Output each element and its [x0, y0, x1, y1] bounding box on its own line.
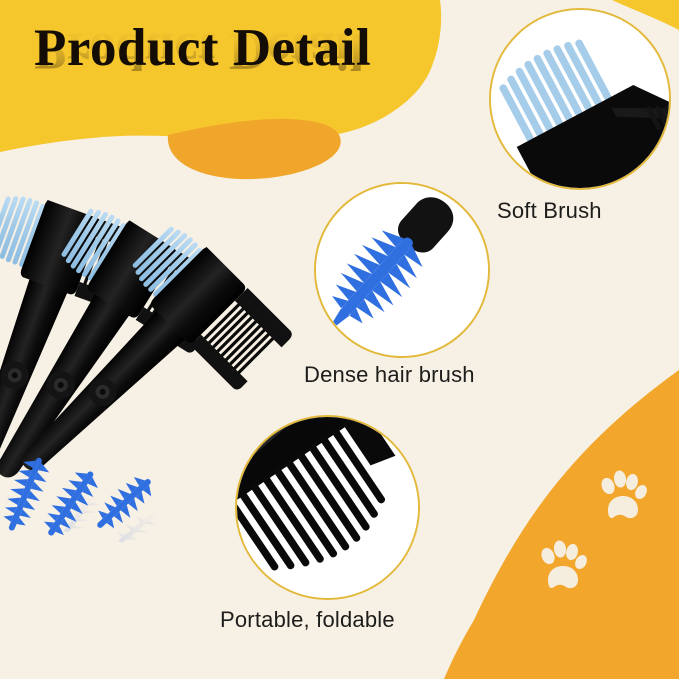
caption-dense-hair-brush: Dense hair brush: [304, 362, 475, 388]
comb-closeup: [237, 417, 420, 600]
page-title-reflection: Product Detail: [34, 24, 434, 77]
caption-soft-brush: Soft Brush: [497, 198, 602, 224]
dense-hair-brush-closeup: [316, 184, 490, 358]
paw-print-icon-1: [596, 470, 648, 524]
product-detail-poster: Product Detail Product Detail: [0, 0, 679, 679]
page-title-block: Product Detail Product Detail: [34, 22, 434, 142]
caption-portable-foldable: Portable, foldable: [220, 607, 395, 633]
callout-dense-hair-brush: [314, 182, 490, 358]
callout-portable-foldable: [235, 415, 420, 600]
paw-print-icon-2: [536, 540, 588, 594]
soft-brush-closeup: [491, 10, 671, 190]
callout-soft-brush: [489, 8, 671, 190]
